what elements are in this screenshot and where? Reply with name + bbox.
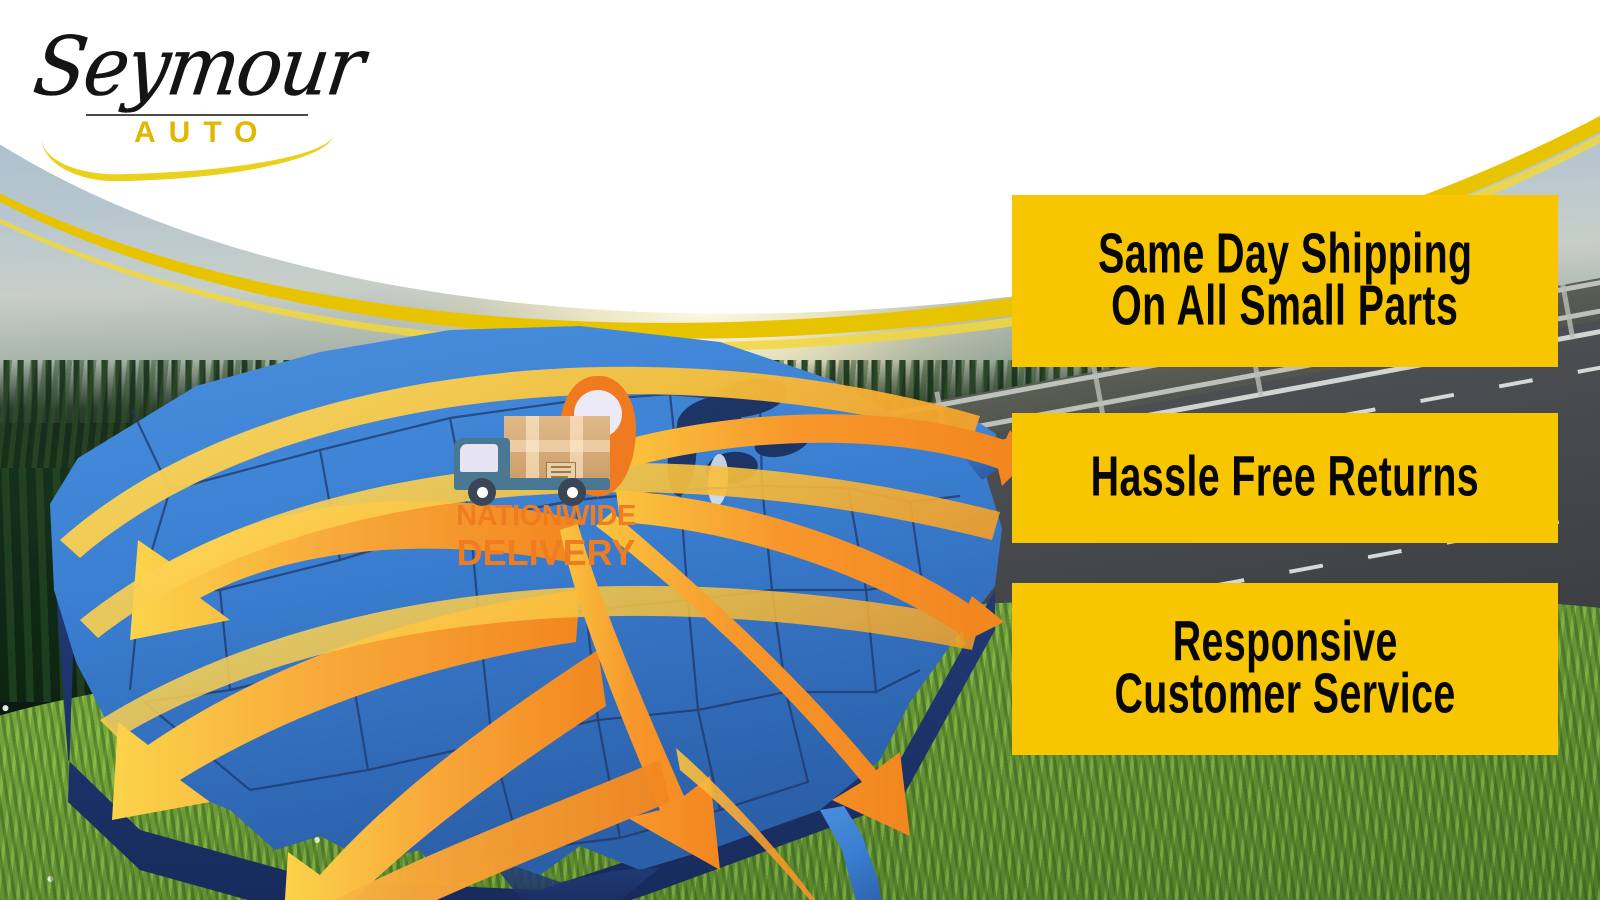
nationwide-delivery-caption: NATIONWIDE DELIVERY (416, 500, 676, 574)
feature-line: Hassle Free Returns (1091, 447, 1479, 508)
caption-line-1: NATIONWIDE (416, 500, 676, 533)
brand-name: Seymour (28, 20, 368, 115)
feature-box-hassle-free-returns[interactable]: Hassle Free Returns (1012, 413, 1558, 543)
delivery-truck-icon (454, 416, 614, 502)
feature-line: On All Small Parts (1111, 276, 1458, 337)
caption-line-2: DELIVERY (416, 532, 676, 574)
cardboard-box-icon (504, 416, 610, 486)
brand-logo[interactable]: Seymour AUTO (34, 18, 344, 168)
truck-wheel-front (468, 478, 496, 506)
truck-window (460, 444, 498, 472)
promotional-banner: Seymour AUTO (0, 0, 1600, 900)
truck-wheel-rear (558, 478, 586, 506)
feature-line: Customer Service (1114, 664, 1455, 725)
feature-box-responsive-customer-service[interactable]: ResponsiveCustomer Service (1012, 583, 1558, 755)
feature-box-same-day-shipping[interactable]: Same Day ShippingOn All Small Parts (1012, 195, 1558, 367)
